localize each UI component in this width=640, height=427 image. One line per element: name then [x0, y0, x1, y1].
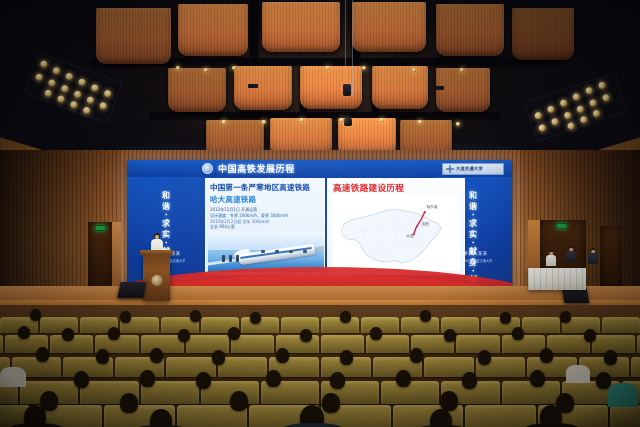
map-label-harbin: 哈尔滨 [427, 205, 438, 210]
platform-person [222, 255, 225, 262]
audience-head [178, 329, 190, 342]
projection-screen: 和谐·求实·献身·创新 演讲人：某某 2019年6月 · 大连交通大学 和谐·求… [127, 160, 512, 293]
university-logo: 大连交通大学 [442, 163, 504, 175]
spotlight-head-icon [222, 120, 226, 124]
platform-person [236, 255, 239, 262]
ceiling-acoustic-panel [262, 2, 340, 52]
lectern-top [140, 250, 173, 255]
audience-head [120, 393, 138, 413]
audience-head [266, 370, 281, 387]
stage-doorway-left[interactable] [88, 222, 114, 292]
seat [281, 317, 319, 333]
high-speed-train-photo [208, 232, 324, 272]
seated-person [566, 246, 576, 262]
spotlight-head-icon [326, 66, 330, 70]
seat [610, 405, 640, 427]
ceiling-acoustic-panel [234, 66, 292, 110]
seat [631, 357, 640, 377]
audience-head [340, 311, 351, 323]
audience-head [370, 327, 382, 340]
audience-head [500, 312, 511, 324]
seat-row [0, 381, 640, 404]
ceiling-acoustic-panel [436, 4, 504, 56]
ceiling-mounted-device [434, 86, 444, 90]
spotlight-head-icon [262, 120, 266, 124]
audience-head [410, 348, 423, 363]
stage-monitor-speaker [117, 282, 146, 298]
ceiling-acoustic-panel [96, 8, 171, 64]
slide-card-right: 高速铁路建设历程 [327, 178, 465, 275]
china-map-svg [332, 194, 460, 271]
audience-head [560, 311, 571, 323]
audience-head [340, 350, 353, 365]
audience-head [584, 329, 596, 342]
hanging-light-fixture [344, 118, 352, 126]
stage-monitor-speaker [562, 288, 590, 303]
ceiling-beam [250, 0, 258, 60]
rigging-cable [352, 0, 353, 96]
audience-head [230, 391, 248, 411]
china-outline [341, 209, 441, 263]
seat [522, 317, 560, 333]
slide-title-bar: 中国高铁发展历程 大连交通大学 [127, 160, 512, 177]
exit-sign-icon [556, 223, 567, 229]
audience-head [420, 310, 431, 322]
audience-head [18, 326, 30, 339]
audience-head [322, 393, 340, 413]
ceiling-acoustic-panel [372, 66, 428, 109]
rigging-cable [345, 0, 346, 96]
audience-head [108, 327, 120, 340]
platform-person [229, 255, 232, 262]
audience-head [30, 309, 41, 321]
spotlight-head-icon [232, 66, 236, 70]
seat [602, 317, 640, 333]
city-dot-shenyang [416, 225, 418, 227]
auditorium-scene: 和谐·求实·献身·创新 演讲人：某某 2019年6月 · 大连交通大学 和谐·求… [0, 0, 640, 427]
audience-head [96, 349, 109, 364]
audience-area [0, 305, 640, 427]
seated-body [546, 255, 556, 266]
audience-head [478, 350, 491, 365]
exit-sign-icon [95, 225, 106, 231]
ceiling-light-cluster [524, 72, 628, 142]
spotlight-head-icon [340, 118, 344, 122]
city-dot-harbin [424, 211, 426, 213]
ceiling-acoustic-panel [352, 2, 426, 52]
audience-head [462, 372, 477, 389]
stage-doorway-far-right[interactable] [600, 226, 622, 290]
slide-card-left: 中国第一条严寒地区高速铁路 哈大高速铁路 2012年12月1日 开通运营 设计速… [205, 178, 325, 275]
ceiling-acoustic-panel [168, 68, 226, 112]
ceiling-acoustic-panel [512, 8, 574, 60]
hanging-light-fixture [343, 84, 351, 96]
audience-head [276, 348, 289, 363]
ceiling [0, 0, 640, 172]
audience-shoulders [566, 365, 590, 383]
spotlight-head-icon [412, 68, 416, 72]
lectern-emblem-icon [151, 275, 162, 286]
audience-head [540, 348, 553, 363]
audience-head [512, 327, 524, 340]
seat [381, 381, 439, 404]
audience-head [228, 327, 240, 340]
map-label-shenyang: 沈阳 [422, 222, 429, 227]
audience-head [330, 372, 345, 389]
spotlight-head-icon [204, 68, 208, 72]
ceiling-mounted-device [248, 84, 258, 88]
audience-head [140, 370, 155, 387]
ceiling-acoustic-panel [436, 68, 490, 112]
slide-right-title: 高速铁路建设历程 [333, 182, 464, 194]
slide-left-heading-primary: 中国第一条严寒地区高速铁路 [210, 182, 324, 193]
seat [465, 405, 535, 427]
audience-head [300, 329, 312, 342]
audience-head [212, 350, 225, 365]
spotlight-head-icon [362, 66, 366, 70]
audience-head [396, 370, 411, 387]
audience-head [596, 372, 611, 389]
seat [218, 357, 268, 377]
spotlight-head-icon [380, 118, 384, 122]
china-route-map: 哈尔滨 沈阳 大连 [332, 194, 460, 271]
spotlight-head-icon [176, 66, 180, 70]
ceiling-acoustic-panel [178, 4, 248, 56]
seat [456, 335, 499, 353]
audience-head [62, 328, 74, 341]
audience-head [150, 348, 163, 363]
audience-head [74, 371, 89, 388]
rail-emblem-icon [202, 163, 213, 174]
slide-left-meta: 2012年12月1日 开通运营 设计速度：冬季 200km/h，夏季 300km… [210, 207, 324, 230]
seat-row [0, 317, 640, 333]
audience-head [604, 350, 617, 365]
lectern [143, 253, 170, 301]
university-mark-icon [446, 165, 454, 173]
seat [186, 335, 229, 353]
train-window [303, 250, 307, 254]
audience-shoulders [608, 383, 638, 407]
audience-head [444, 329, 456, 342]
spotlight-head-icon [418, 120, 422, 124]
map-label-dalian: 大连 [406, 234, 413, 239]
university-name: 大连交通大学 [456, 166, 483, 172]
slide-left-heading-secondary: 哈大高速铁路 [210, 194, 324, 205]
audience-head [250, 312, 261, 324]
seated-body [588, 253, 598, 264]
audience-head [36, 347, 49, 362]
audience-head [530, 370, 545, 387]
spotlight-head-icon [300, 118, 304, 122]
spotlight-head-icon [460, 68, 464, 72]
seated-person [546, 250, 556, 266]
seated-body [566, 251, 576, 262]
seated-person [588, 248, 598, 264]
slide-title: 中国高铁发展历程 [218, 162, 295, 175]
audience-head [196, 372, 211, 389]
meta-line-length: 全长 904公里 [210, 224, 324, 230]
panel-table [528, 268, 586, 290]
audience-shoulders [0, 367, 26, 387]
audience-head [190, 310, 201, 322]
audience-head [440, 391, 458, 411]
spotlight-head-icon [456, 122, 460, 126]
seat [0, 335, 3, 353]
audience-head [120, 311, 131, 323]
